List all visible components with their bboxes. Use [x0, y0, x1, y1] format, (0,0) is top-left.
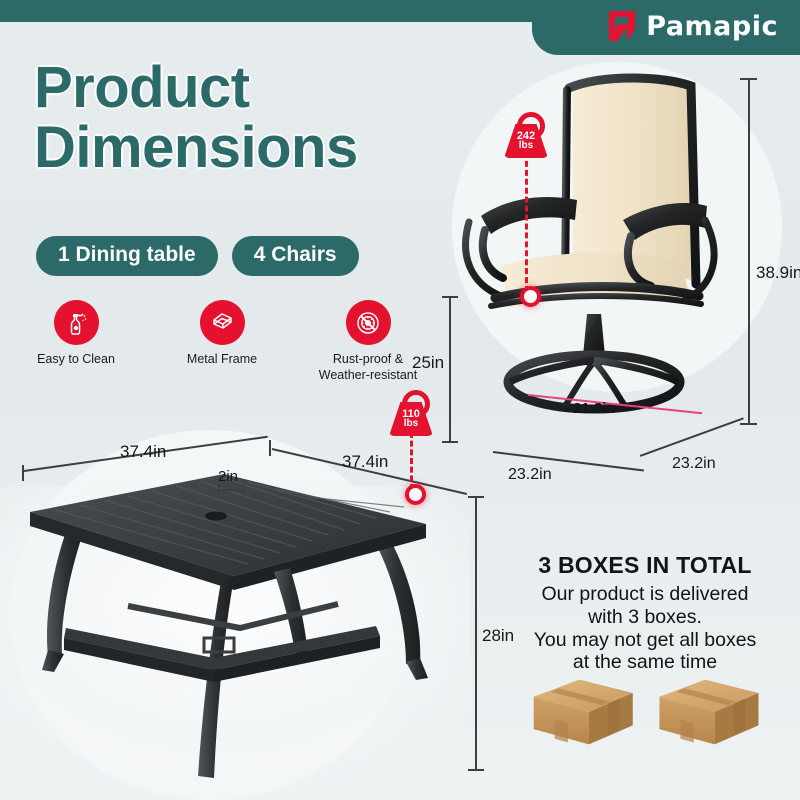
table-weight-badge: 110 lbs: [389, 390, 433, 436]
chair-weight-badge: 242 lbs: [504, 112, 548, 158]
chair-width-label: 23.2in: [508, 466, 552, 484]
boxes-line-4: at the same time: [573, 651, 717, 673]
spray-bottle-icon: [54, 300, 99, 345]
cardboard-boxes-illustration: [520, 672, 776, 752]
logo-panel: Pamapic: [532, 0, 800, 55]
boxes-line-1: Our product is delivered: [541, 583, 748, 605]
feature-rust-proof: Rust-proof & Weather-resistant: [314, 300, 422, 383]
table-height-tick-bottom: [468, 769, 484, 771]
feature-metal-frame: Metal Frame: [168, 300, 276, 383]
metal-layers-icon: [200, 300, 245, 345]
chair-height-tick-bottom: [740, 423, 757, 425]
cardboard-box: [534, 680, 633, 745]
table-weight-text: 110 lbs: [402, 409, 420, 430]
chair-seat-height-line: [449, 296, 451, 442]
brand-logo: Pamapic: [607, 9, 778, 43]
brand-name: Pamapic: [646, 11, 778, 42]
chair-height-tick-top: [740, 78, 757, 80]
table-width-label: 37.4in: [342, 452, 388, 472]
title-line-2: Dimensions: [34, 118, 464, 178]
table-height-line: [475, 496, 477, 770]
table-weight-dash-line: [410, 432, 413, 490]
chair-seat-tick-top: [442, 296, 458, 298]
boxes-title: 3 BOXES IN TOTAL: [495, 552, 795, 579]
chair-base-diameter-label: 21.8in: [573, 400, 616, 417]
table-umbrella-hole-line: [218, 489, 244, 491]
feature-label-metal-frame: Metal Frame: [187, 352, 257, 368]
chair-weight-text: 242 lbs: [517, 131, 535, 152]
umbrella-tick-left: [218, 485, 220, 494]
pill-dining-table: 1 Dining table: [36, 236, 218, 276]
umbrella-tick-right: [243, 485, 245, 494]
contents-pills: 1 Dining table 4 Chairs: [36, 236, 359, 276]
chair-height-line: [748, 78, 750, 424]
rust-proof-line-2: Weather-resistant: [319, 368, 417, 382]
boxes-description: Our product is delivered with 3 boxes. Y…: [495, 583, 795, 674]
table-length-label: 37.4in: [120, 442, 166, 462]
pill-chairs: 4 Chairs: [232, 236, 359, 276]
chair-product-image: [455, 70, 775, 440]
chair-depth-label: 23.2in: [672, 455, 716, 473]
feature-list: Easy to Clean Metal Frame: [22, 300, 422, 383]
chair-height-label: 38.9in: [756, 263, 800, 283]
table-weight-unit: lbs: [402, 419, 420, 429]
feature-label-rust-proof: Rust-proof & Weather-resistant: [319, 352, 417, 383]
rust-proof-line-1: Rust-proof &: [333, 352, 403, 366]
chair-weight-dash-line: [525, 152, 528, 292]
title-line-1: Product: [34, 58, 464, 118]
chair-seat-tick-bottom: [442, 441, 458, 443]
chair-weight-unit: lbs: [517, 141, 535, 151]
feature-easy-to-clean: Easy to Clean: [22, 300, 130, 383]
table-weight-point: [405, 484, 426, 505]
feature-label-easy-to-clean: Easy to Clean: [37, 352, 115, 368]
page-title: Product Dimensions: [34, 58, 464, 179]
table-product-image: [8, 460, 448, 790]
rust-proof-shield-icon: [346, 300, 391, 345]
chair-seat-height-label: 25in: [412, 353, 444, 373]
boxes-info: 3 BOXES IN TOTAL Our product is delivere…: [495, 552, 795, 674]
table-length-tick-right: [269, 440, 271, 456]
chair-weight-point: [520, 286, 541, 307]
table-height-tick-top: [468, 496, 484, 498]
table-length-tick-left: [22, 465, 24, 481]
pamapic-r-logo-icon: [607, 9, 637, 43]
infographic-page: Pamapic Product Dimensions 1 Dining tabl…: [0, 0, 800, 800]
boxes-line-2: with 3 boxes.: [588, 606, 702, 628]
cardboard-box: [659, 680, 758, 745]
table-umbrella-hole-label: 2in: [218, 468, 238, 485]
boxes-line-3: You may not get all boxes: [534, 629, 757, 651]
